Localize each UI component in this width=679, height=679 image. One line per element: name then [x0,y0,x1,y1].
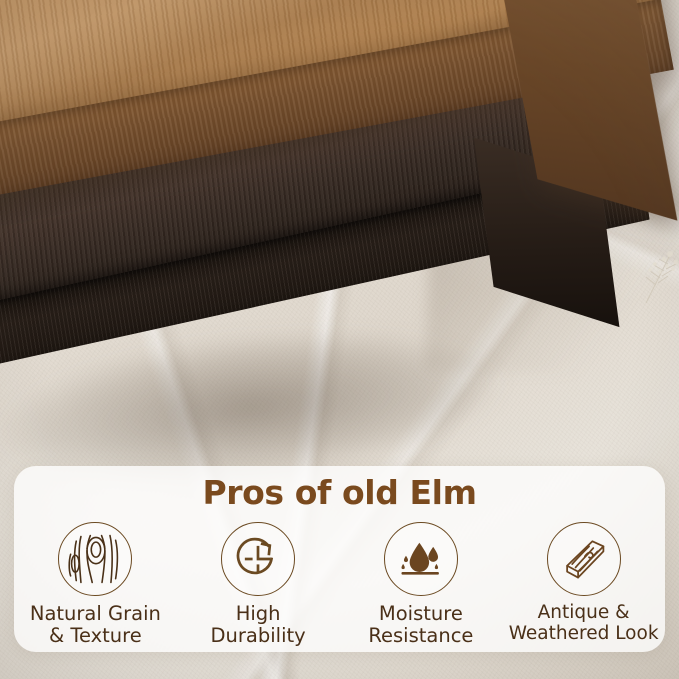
feature-high-durability: High Durability [177,522,340,647]
feature-list: Natural Grain & Texture High Durability [14,522,665,647]
feature-natural-grain: Natural Grain & Texture [14,522,177,647]
banner-title: Pros of old Elm [14,473,665,512]
product-photo-scene: Pros of old Elm [0,0,679,679]
feature-label: High Durability [211,603,306,647]
wood-grain-icon [58,522,132,596]
feature-antique-weathered: Antique & Weathered Look [502,522,665,647]
feature-label: Moisture Resistance [368,603,473,647]
feature-moisture-resistance: Moisture Resistance [340,522,503,647]
feature-label: Antique & Weathered Look [509,603,659,644]
clock-arrow-icon [221,522,295,596]
water-droplet-icon [384,522,458,596]
feature-label: Natural Grain & Texture [30,603,161,647]
benefits-banner: Pros of old Elm [14,466,665,652]
wood-plank-icon [547,522,621,596]
